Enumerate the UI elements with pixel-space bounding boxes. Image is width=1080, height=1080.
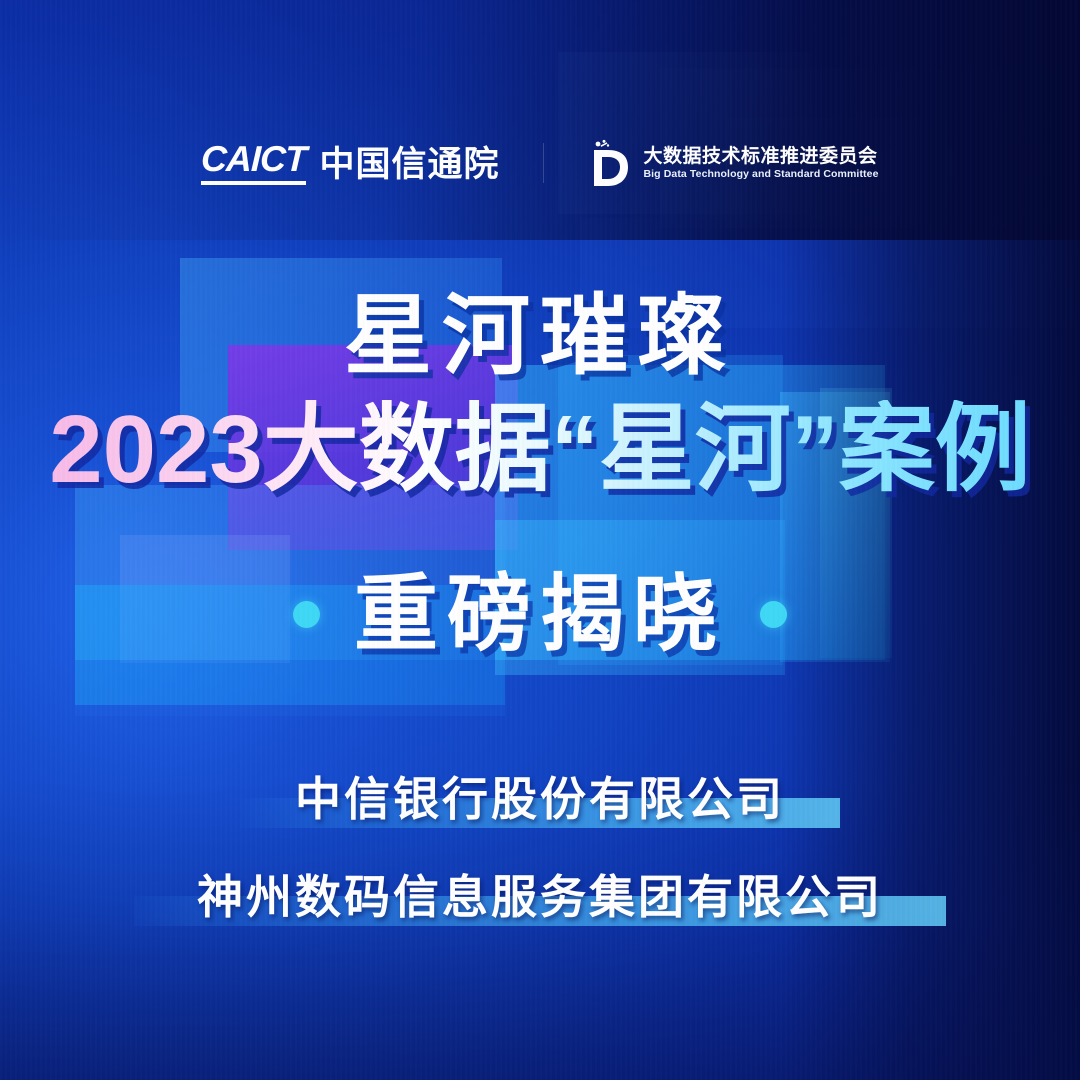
company-name: 神州数码信息服务集团有限公司 [0, 866, 1080, 928]
headline-line-2: 2023大数据“星河”案例 [0, 400, 1080, 501]
bullet-dot-right-icon [760, 601, 787, 628]
headline-line-3: 重磅揭晓 [354, 572, 726, 656]
bdtc-logo: 大数据技术标准推进委员会 Big Data Technology and Sta… [588, 138, 878, 188]
bdtc-text-block: 大数据技术标准推进委员会 Big Data Technology and Sta… [643, 147, 878, 180]
bdtc-chinese-name: 大数据技术标准推进委员会 [643, 147, 878, 166]
background-rect-left-bottom [75, 660, 505, 716]
caict-underline [201, 181, 306, 185]
logo-divider [543, 143, 544, 183]
caict-acronym: CAICT [201, 141, 307, 177]
bdtc-english-name: Big Data Technology and Standard Committ… [643, 169, 878, 180]
caict-acronym-mark: CAICT [201, 141, 306, 185]
headline-line-3-row: 重磅揭晓 [0, 572, 1080, 656]
bullet-dot-left-icon [293, 601, 320, 628]
caict-chinese-name: 中国信通院 [319, 147, 499, 185]
poster-canvas: CAICT 中国信通院 大数据技术标准推进委员会 Big Data Techno [0, 0, 1080, 1080]
company-name: 中信银行股份有限公司 [0, 768, 1080, 830]
headline-line-1: 星河璀璨 [0, 292, 1080, 380]
company-row: 中信银行股份有限公司 [0, 768, 1080, 830]
company-list: 中信银行股份有限公司 神州数码信息服务集团有限公司 [0, 768, 1080, 964]
company-row: 神州数码信息服务集团有限公司 [0, 866, 1080, 928]
headline-line-2-text: 2023大数据“星河”案例 [49, 400, 1031, 501]
caict-logo: CAICT 中国信通院 [201, 141, 499, 185]
logo-row: CAICT 中国信通院 大数据技术标准推进委员会 Big Data Techno [0, 132, 1080, 194]
big-data-d-icon [588, 138, 632, 188]
